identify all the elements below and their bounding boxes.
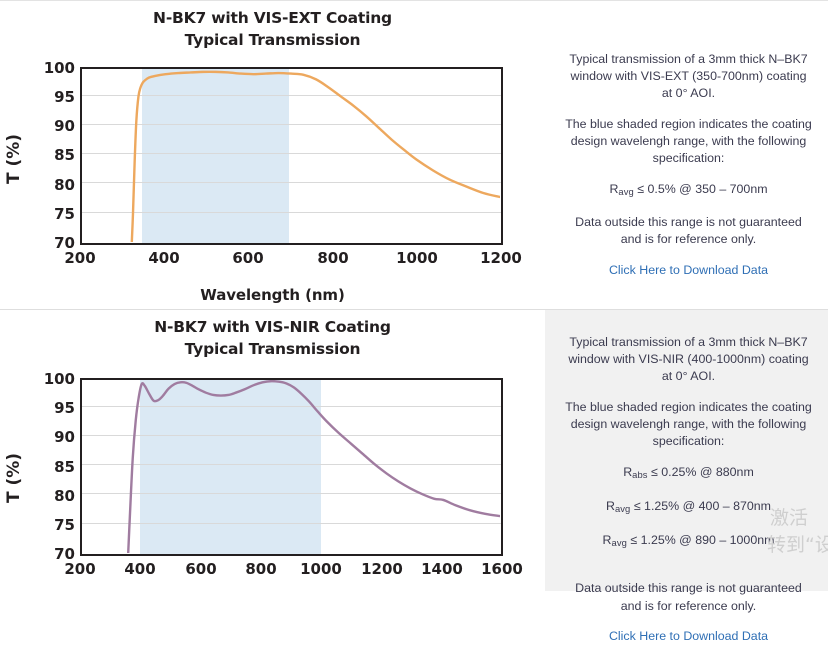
spec-value-bot-2: ≤ 1.25% @ 890 – 1000nm — [627, 533, 775, 547]
info-panel-vis-ext: Typical transmission of a 3mm thick N–BK… — [545, 0, 828, 310]
y-tick-top-85: 85 — [35, 148, 75, 163]
spec-symbol-bot-0: R — [623, 465, 632, 479]
y-tick-bot-90: 90 — [35, 430, 75, 445]
spec-line-top-0: Ravg ≤ 0.5% @ 350 – 700nm — [565, 180, 812, 201]
chart-panel-vis-nir: N-BK7 with VIS-NIR Coating Typical Trans… — [0, 310, 545, 591]
spec-symbol-bot-2: R — [603, 533, 612, 547]
chart-title-line2-bot: Typical Transmission — [0, 338, 545, 360]
x-tick-top-200: 200 — [50, 251, 110, 266]
x-tick-top-800: 800 — [303, 251, 363, 266]
info-para-3-bot: Data outside this range is not guarantee… — [565, 580, 812, 614]
x-tick-bot-1200: 1200 — [352, 562, 412, 577]
y-tick-bot-80: 80 — [35, 489, 75, 504]
spec-subscript-top-0: avg — [618, 186, 633, 197]
spec-symbol-bot-1: R — [606, 499, 615, 513]
x-tick-bot-600: 600 — [171, 562, 231, 577]
page-root: N-BK7 with VIS-EXT Coating Typical Trans… — [0, 0, 828, 591]
spec-subscript-bot-1: avg — [615, 503, 630, 514]
y-axis-label-top: T (%) — [4, 129, 24, 189]
transmission-curve-vis-ext — [82, 69, 500, 242]
x-axis-label-top: Wavelength (nm) — [0, 286, 545, 304]
spec-value-bot-0: ≤ 0.25% @ 880nm — [648, 465, 754, 479]
y-tick-bot-100: 100 — [35, 372, 75, 387]
y-tick-bot-95: 95 — [35, 401, 75, 416]
y-tick-top-80: 80 — [35, 178, 75, 193]
x-tick-top-1200: 1200 — [471, 251, 531, 266]
plot-area-vis-ext — [80, 67, 503, 245]
x-tick-bot-1600: 1600 — [472, 562, 532, 577]
spec-line-bot-2: Ravg ≤ 1.25% @ 890 – 1000nm — [565, 531, 812, 552]
y-tick-top-95: 95 — [35, 90, 75, 105]
info-para-1-bot: Typical transmission of a 3mm thick N–BK… — [565, 334, 812, 386]
x-tick-bot-400: 400 — [110, 562, 170, 577]
spec-subscript-bot-0: abs — [632, 469, 647, 480]
download-data-link-bot[interactable]: Click Here to Download Data — [609, 628, 768, 645]
x-tick-bot-1400: 1400 — [412, 562, 472, 577]
chart-title-line1-bot: N-BK7 with VIS-NIR Coating — [0, 316, 545, 338]
spec-value-top-0: ≤ 0.5% @ 350 – 700nm — [634, 182, 768, 196]
download-data-link-top[interactable]: Click Here to Download Data — [609, 262, 768, 279]
y-tick-top-75: 75 — [35, 207, 75, 222]
x-tick-bot-800: 800 — [231, 562, 291, 577]
info-para-2-top: The blue shaded region indicates the coa… — [565, 116, 812, 168]
x-tick-top-1000: 1000 — [387, 251, 447, 266]
info-panel-vis-nir: Typical transmission of a 3mm thick N–BK… — [545, 310, 828, 591]
spec-subscript-bot-2: avg — [612, 537, 627, 548]
chart-panel-vis-ext: N-BK7 with VIS-EXT Coating Typical Trans… — [0, 0, 545, 310]
y-tick-top-100: 100 — [35, 61, 75, 76]
spec-line-bot-0: Rabs ≤ 0.25% @ 880nm — [565, 463, 812, 484]
x-tick-top-600: 600 — [218, 251, 278, 266]
info-para-1-top: Typical transmission of a 3mm thick N–BK… — [565, 51, 812, 103]
plot-area-vis-nir — [80, 378, 503, 556]
y-tick-bot-85: 85 — [35, 460, 75, 475]
x-tick-bot-1000: 1000 — [291, 562, 351, 577]
transmission-curve-vis-nir — [82, 380, 500, 553]
spec-value-bot-1: ≤ 1.25% @ 400 – 870nm — [630, 499, 771, 513]
y-tick-top-90: 90 — [35, 119, 75, 134]
info-para-3-top: Data outside this range is not guarantee… — [565, 214, 812, 248]
x-tick-bot-200: 200 — [50, 562, 110, 577]
x-tick-top-400: 400 — [134, 251, 194, 266]
info-para-2-bot: The blue shaded region indicates the coa… — [565, 399, 812, 451]
chart-title-line1-top: N-BK7 with VIS-EXT Coating — [0, 7, 545, 29]
spec-line-bot-1: Ravg ≤ 1.25% @ 400 – 870nm — [565, 497, 812, 518]
y-axis-label-bot: T (%) — [4, 448, 24, 508]
y-tick-bot-75: 75 — [35, 518, 75, 533]
chart-title-line2-top: Typical Transmission — [0, 29, 545, 51]
